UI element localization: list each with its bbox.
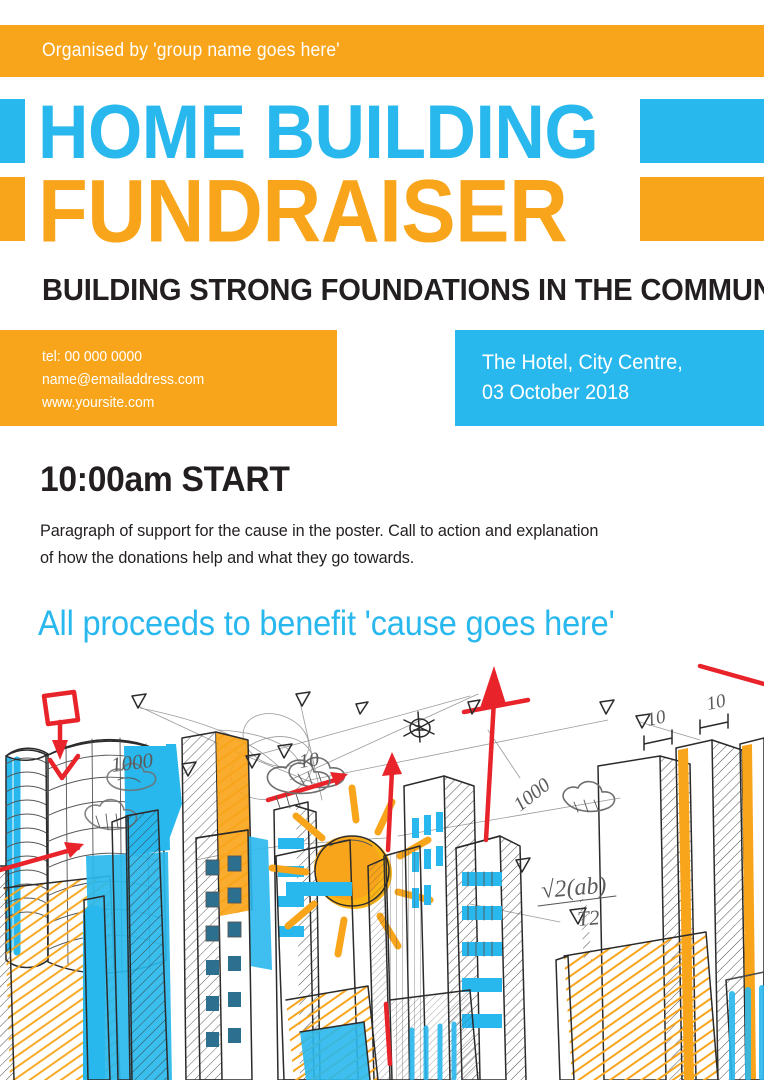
central-tower [182,732,272,1080]
annotation-formula-numerator: √2(ab) [540,872,607,904]
poster-canvas: Organised by 'group name goes here' HOME… [0,0,764,1080]
contact-info-box: tel: 00 000 0000 name@emailaddress.com w… [0,330,337,426]
right-accent-block-orange [640,177,764,241]
contact-phone: tel: 00 000 0000 [42,345,316,368]
left-accent-bar-cyan [0,99,25,163]
start-time-heading: 10:00am START [40,460,290,500]
cityscape-svg: 1000 10 1000 10 10 √2(ab) T2 [0,660,764,1080]
annotation-10-mid: 10 [298,748,321,773]
annotation-formula-denominator: T2 [576,905,601,931]
organiser-banner: Organised by 'group name goes here' [0,25,764,77]
cyan-bold-bands [286,882,352,896]
left-accent-bar-orange [0,177,25,241]
annotation-10-rightA: 10 [645,706,668,731]
title-line-2-row: FUNDRAISER [0,175,764,245]
poster-subheadline: BUILDING STRONG FOUNDATIONS IN THE COMMU… [42,272,691,308]
annotation-10-rightB: 10 [705,690,728,715]
proceeds-tagline: All proceeds to benefit 'cause goes here… [38,604,615,644]
contact-website[interactable]: www.yoursite.com [42,391,316,414]
title-block: HOME BUILDING FUNDRAISER [0,97,764,255]
red-square-marker [44,692,78,778]
right-accent-block-cyan [640,99,764,163]
organiser-text: Organised by 'group name goes here' [42,40,340,62]
cityscape-sketch-illustration: 1000 10 1000 10 10 √2(ab) T2 [0,660,764,1080]
title-line-1-row: HOME BUILDING [0,97,764,167]
annotation-1000-left: 1000 [110,748,155,777]
venue-place: The Hotel, City Centre, [482,348,747,378]
support-paragraph: Paragraph of support for the cause in th… [40,517,613,571]
contact-email[interactable]: name@emailaddress.com [42,368,316,391]
annotation-1000-right: 1000 [510,774,555,816]
venue-date: 03 October 2018 [482,378,747,408]
poster-title-line-2: FUNDRAISER [38,164,567,257]
venue-info-box: The Hotel, City Centre, 03 October 2018 [455,330,764,426]
